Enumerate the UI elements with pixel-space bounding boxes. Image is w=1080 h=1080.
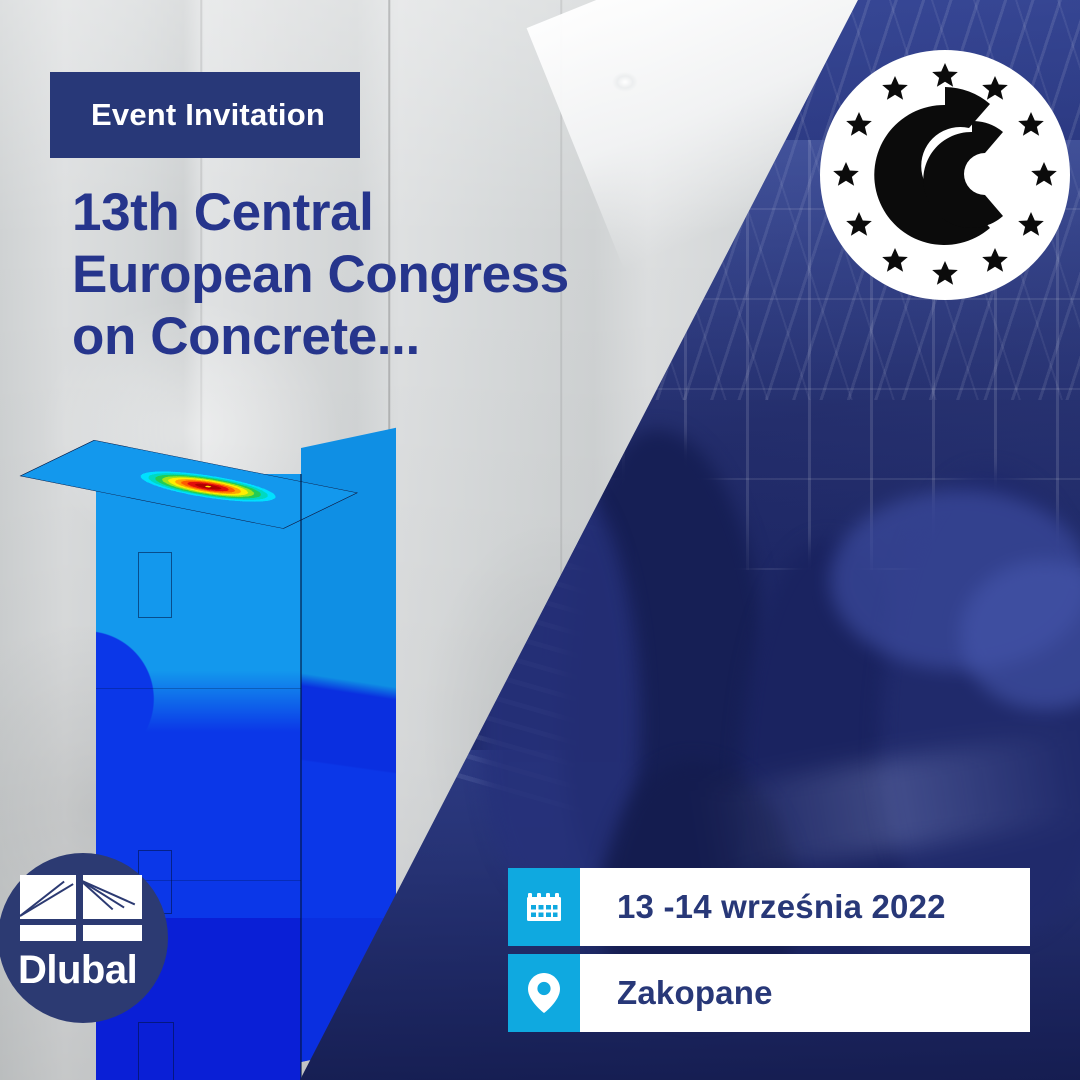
column-segment-line	[96, 688, 301, 689]
event-location-value: Zakopane	[580, 974, 773, 1012]
column-opening	[138, 552, 172, 618]
title-line-2: European Congress	[72, 244, 672, 306]
column-corner-edge	[300, 474, 302, 1080]
congress-logo	[820, 50, 1070, 300]
event-invitation-badge: Event Invitation	[50, 72, 360, 158]
double-c-icon	[874, 87, 1003, 245]
bridge-icon	[20, 875, 142, 941]
event-date-row: 13 -14 września 2022	[508, 868, 1030, 946]
event-date-value-wrap: 13 -14 września 2022	[580, 868, 1030, 946]
calendar-icon	[508, 868, 580, 946]
brand-name: Dlubal	[18, 948, 137, 993]
page-title: 13th Central European Congress on Concre…	[72, 182, 672, 368]
ceiling-spotlight	[612, 72, 638, 92]
column-opening	[138, 1022, 174, 1080]
event-location-row: Zakopane	[508, 954, 1030, 1032]
event-location-value-wrap: Zakopane	[580, 954, 1030, 1032]
dlubal-brand-badge: Dlubal	[0, 853, 168, 1023]
stress-peak-marker	[205, 486, 212, 488]
title-line-1: 13th Central	[72, 182, 672, 244]
title-line-3: on Concrete...	[72, 306, 672, 368]
poster-canvas: Event Invitation 13th Central European C…	[0, 0, 1080, 1080]
badge-label: Event Invitation	[50, 97, 325, 133]
bridge-icon-pylon	[76, 875, 83, 941]
location-pin-icon	[508, 954, 580, 1032]
event-date-value: 13 -14 września 2022	[580, 888, 946, 926]
